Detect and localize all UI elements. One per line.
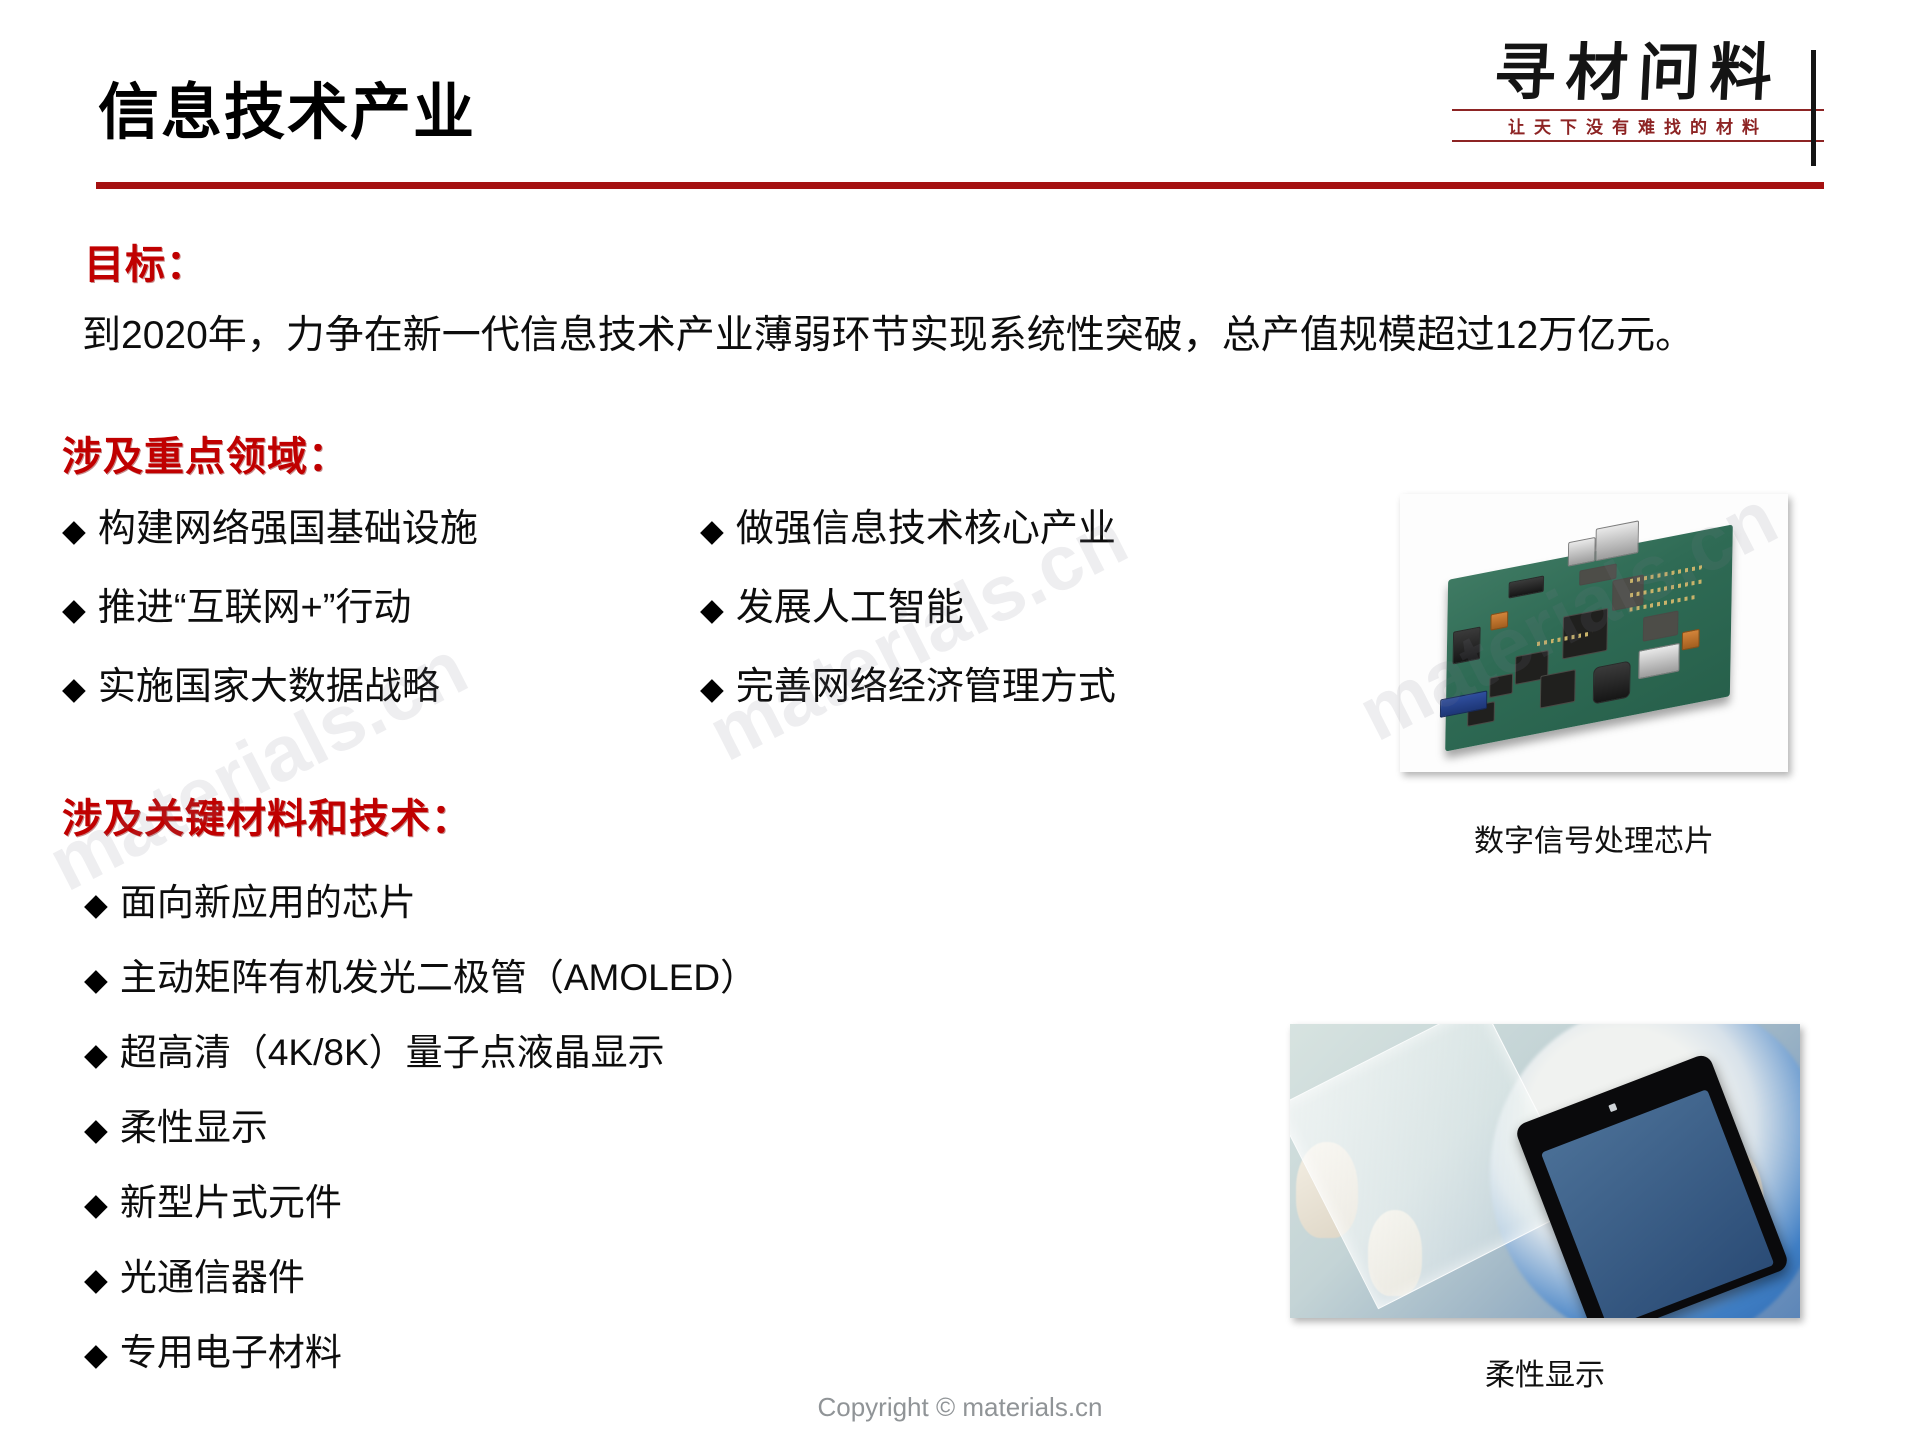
list-item-label: 超高清（4K/8K）量子点液晶显示 (120, 1034, 665, 1071)
diamond-bullet-icon: ◆ (84, 964, 108, 995)
diamond-bullet-icon: ◆ (84, 1039, 108, 1070)
diamond-bullet-icon: ◆ (700, 515, 724, 546)
list-item-label: 构建网络强国基础设施 (98, 510, 478, 548)
diamond-bullet-icon: ◆ (700, 673, 724, 704)
list-item-label: 做强信息技术核心产业 (736, 510, 1116, 548)
logo-wordmark: 寻材问料 (1450, 40, 1825, 105)
logo-tagline-frame: 让天下没有难找的材料 (1452, 109, 1824, 142)
section-heading-key-materials: 涉及关键材料和技术： (62, 786, 472, 844)
figure-flexible-display (1290, 1024, 1800, 1318)
logo-tagline: 让天下没有难找的材料 (1452, 113, 1824, 138)
diamond-bullet-icon: ◆ (62, 673, 86, 704)
list-item-label: 面向新应用的芯片 (120, 884, 416, 921)
diamond-bullet-icon: ◆ (700, 594, 724, 625)
list-item-label: 发展人工智能 (736, 589, 964, 627)
page-title: 信息技术产业 (98, 62, 476, 151)
diamond-bullet-icon: ◆ (84, 1114, 108, 1145)
pcb-photo-illustration (1400, 494, 1788, 772)
section-heading-key-areas: 涉及重点领域： (62, 424, 349, 482)
list-item: ◆ 构建网络强国基础设施 (62, 510, 478, 548)
footer-copyright: Copyright © materials.cn (0, 1392, 1920, 1423)
brand-logo: 寻材问料 让天下没有难找的材料 (1452, 40, 1824, 166)
diamond-bullet-icon: ◆ (84, 1339, 108, 1370)
list-item: ◆ 主动矩阵有机发光二极管（AMOLED） (84, 959, 757, 996)
diamond-bullet-icon: ◆ (84, 889, 108, 920)
list-item-label: 光通信器件 (120, 1259, 305, 1296)
list-item-label: 实施国家大数据战略 (98, 668, 440, 706)
flexible-display-photo-illustration (1290, 1024, 1800, 1318)
list-item: ◆ 光通信器件 (84, 1259, 757, 1296)
list-item-label: 完善网络经济管理方式 (736, 668, 1116, 706)
title-underline-rule (96, 182, 1824, 189)
list-item-label: 专用电子材料 (120, 1334, 342, 1371)
key-areas-left-column: ◆ 构建网络强国基础设施 ◆ 推进“互联网+”行动 ◆ 实施国家大数据战略 (62, 510, 478, 747)
list-item: ◆ 超高清（4K/8K）量子点液晶显示 (84, 1034, 757, 1071)
key-materials-list: ◆ 面向新应用的芯片 ◆ 主动矩阵有机发光二极管（AMOLED） ◆ 超高清（4… (84, 884, 757, 1409)
list-item: ◆ 新型片式元件 (84, 1184, 757, 1221)
diamond-bullet-icon: ◆ (84, 1264, 108, 1295)
figure-caption-dsp: 数字信号处理芯片 (1400, 816, 1788, 860)
list-item: ◆ 实施国家大数据战略 (62, 668, 478, 706)
list-item: ◆ 完善网络经济管理方式 (700, 668, 1116, 706)
figure-caption-flexible-display: 柔性显示 (1290, 1350, 1800, 1394)
list-item-label: 主动矩阵有机发光二极管（AMOLED） (120, 959, 757, 996)
list-item: ◆ 推进“互联网+”行动 (62, 589, 478, 627)
list-item: ◆ 做强信息技术核心产业 (700, 510, 1116, 548)
list-item-label: 新型片式元件 (120, 1184, 342, 1221)
list-item: ◆ 柔性显示 (84, 1109, 757, 1146)
diamond-bullet-icon: ◆ (62, 594, 86, 625)
section-heading-goal: 目标： (84, 232, 207, 290)
slide-header: 信息技术产业 寻材问料 让天下没有难找的材料 (0, 0, 1920, 196)
goal-paragraph: 到2020年，力争在新一代信息技术产业薄弱环节实现系统性突破，总产值规模超过12… (82, 310, 1842, 363)
list-item-label: 推进“互联网+”行动 (98, 589, 412, 627)
diamond-bullet-icon: ◆ (62, 515, 86, 546)
diamond-bullet-icon: ◆ (84, 1189, 108, 1220)
figure-digital-signal-processing-chip (1400, 494, 1788, 772)
list-item: ◆ 发展人工智能 (700, 589, 1116, 627)
pcb-board-body (1445, 524, 1733, 751)
list-item: ◆ 面向新应用的芯片 (84, 884, 757, 921)
key-areas-right-column: ◆ 做强信息技术核心产业 ◆ 发展人工智能 ◆ 完善网络经济管理方式 (700, 510, 1116, 747)
list-item: ◆ 专用电子材料 (84, 1334, 757, 1371)
list-item-label: 柔性显示 (120, 1109, 268, 1146)
